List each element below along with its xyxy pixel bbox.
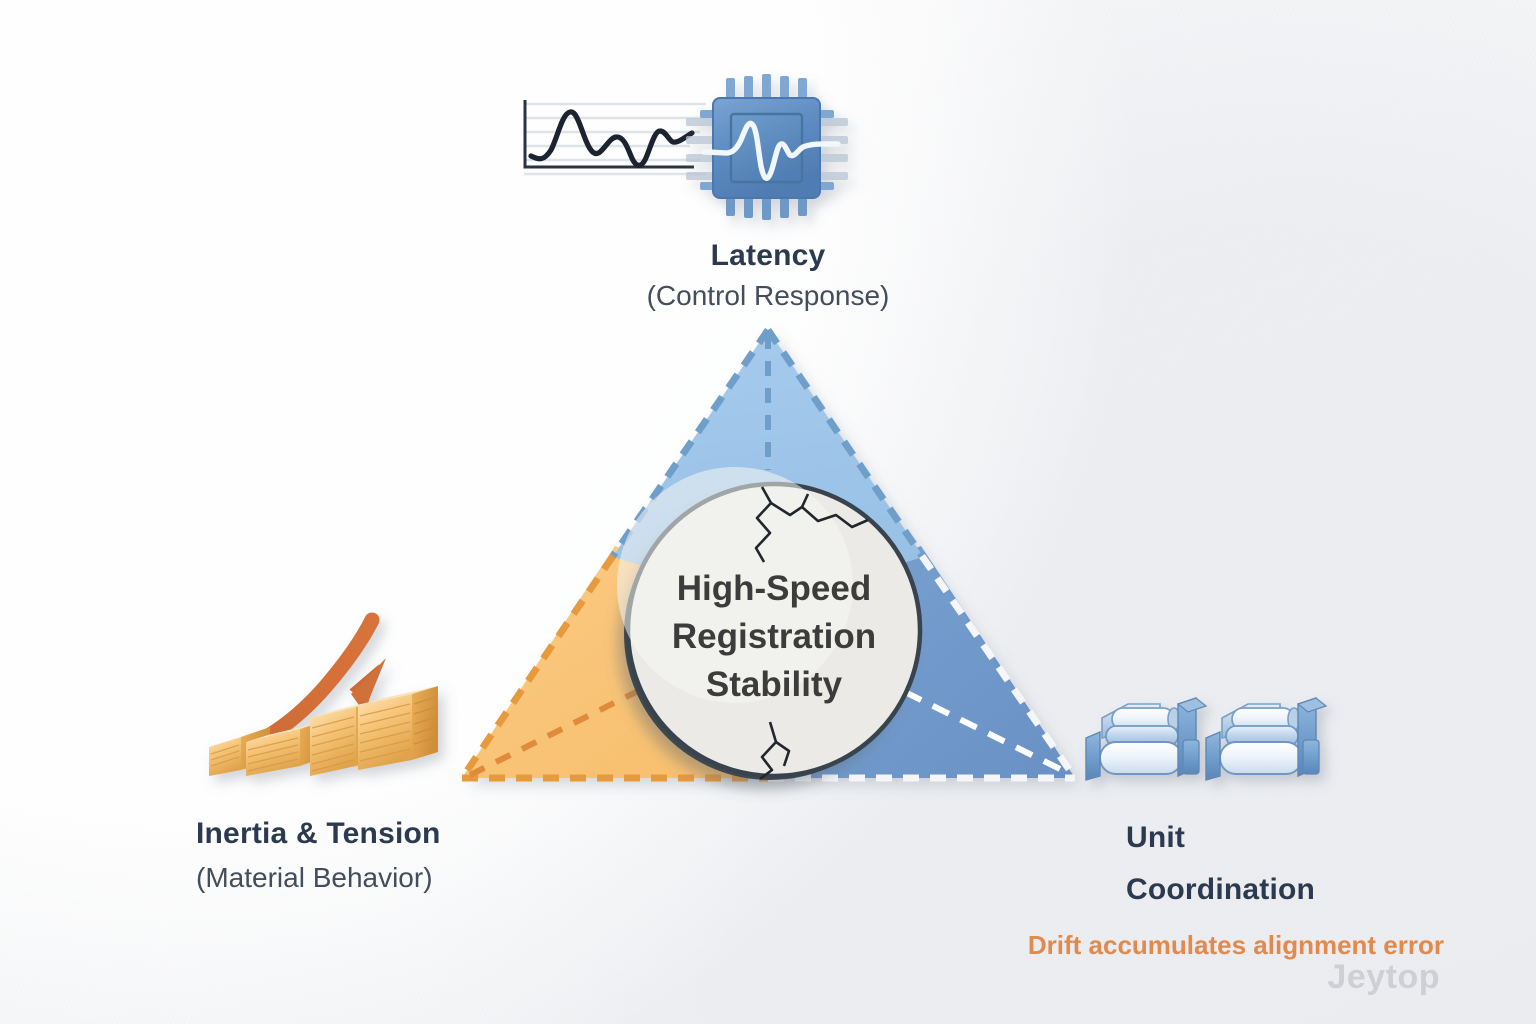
central-label-line-1: High-Speed (677, 569, 871, 608)
node-unit-coordination: Unit Coordination (1126, 812, 1315, 916)
diagram-canvas: High-Speed Registration Stability (0, 0, 1536, 1024)
node-inertia-tension-subtitle: (Material Behavior) (196, 856, 441, 900)
central-label-line-3: Stability (706, 665, 843, 704)
node-unit-coordination-title-line-2: Coordination (1126, 864, 1315, 916)
node-latency-subtitle: (Control Response) (0, 276, 1536, 316)
node-latency-title: Latency (0, 236, 1536, 276)
printing-rollers-icon (1086, 698, 1326, 780)
microchip-waveform-icon (686, 74, 848, 220)
watermark-logo: Jeytop (1327, 958, 1440, 997)
paper-stack-growth-arrow-icon (209, 620, 438, 776)
node-inertia-tension-title: Inertia & Tension (196, 812, 441, 856)
node-unit-coordination-title-line-1: Unit (1126, 812, 1315, 864)
node-latency: Latency (Control Response) (0, 236, 1536, 316)
central-label-line-2: Registration (672, 617, 876, 656)
node-inertia-tension: Inertia & Tension (Material Behavior) (196, 812, 441, 900)
signal-chart-icon (524, 100, 706, 174)
caption-drift-note: Drift accumulates alignment error (0, 930, 1444, 961)
